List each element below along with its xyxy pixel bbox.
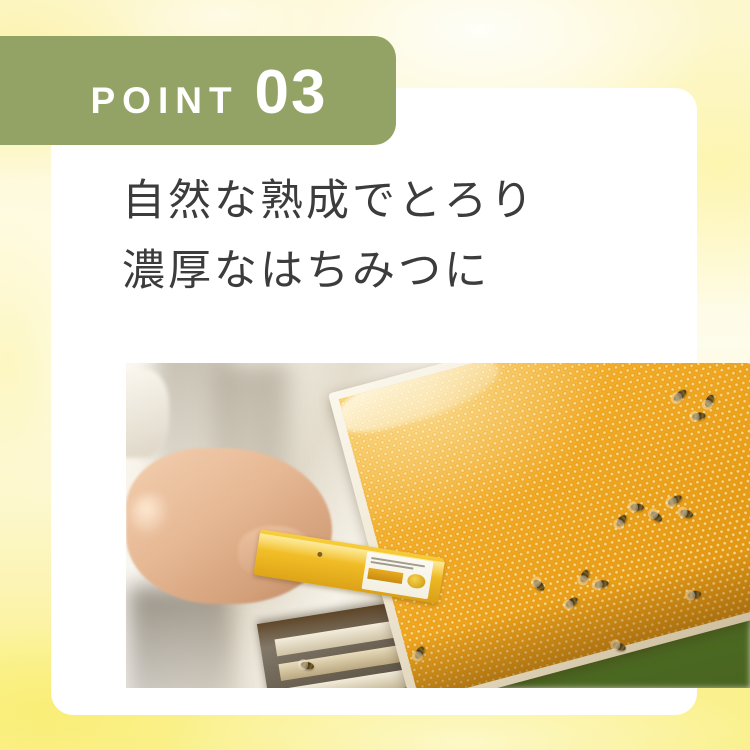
tool-speck: [317, 551, 323, 557]
headline: 自然な熟成でとろり 濃厚なはちみつに: [122, 166, 642, 306]
point-card-canvas: POINT 03 自然な熟成でとろり 濃厚なはちみつに: [0, 0, 750, 750]
bee-icon: [630, 503, 643, 511]
tool-label-emblem: [406, 573, 426, 590]
headline-line-2: 濃厚なはちみつに: [122, 236, 642, 306]
point-badge: POINT 03: [0, 36, 396, 145]
suit-cuff: [126, 370, 169, 458]
point-badge-number: 03: [255, 62, 328, 124]
point-badge-content: POINT 03: [90, 62, 327, 124]
photo-scene: [126, 363, 750, 688]
bee-icon: [692, 412, 706, 420]
point-badge-label: POINT: [90, 82, 238, 119]
beekeeper-photo: [126, 363, 750, 688]
hand-highlight: [130, 494, 171, 538]
tool-label-band: [367, 567, 403, 584]
headline-line-1: 自然な熟成でとろり: [122, 166, 642, 236]
